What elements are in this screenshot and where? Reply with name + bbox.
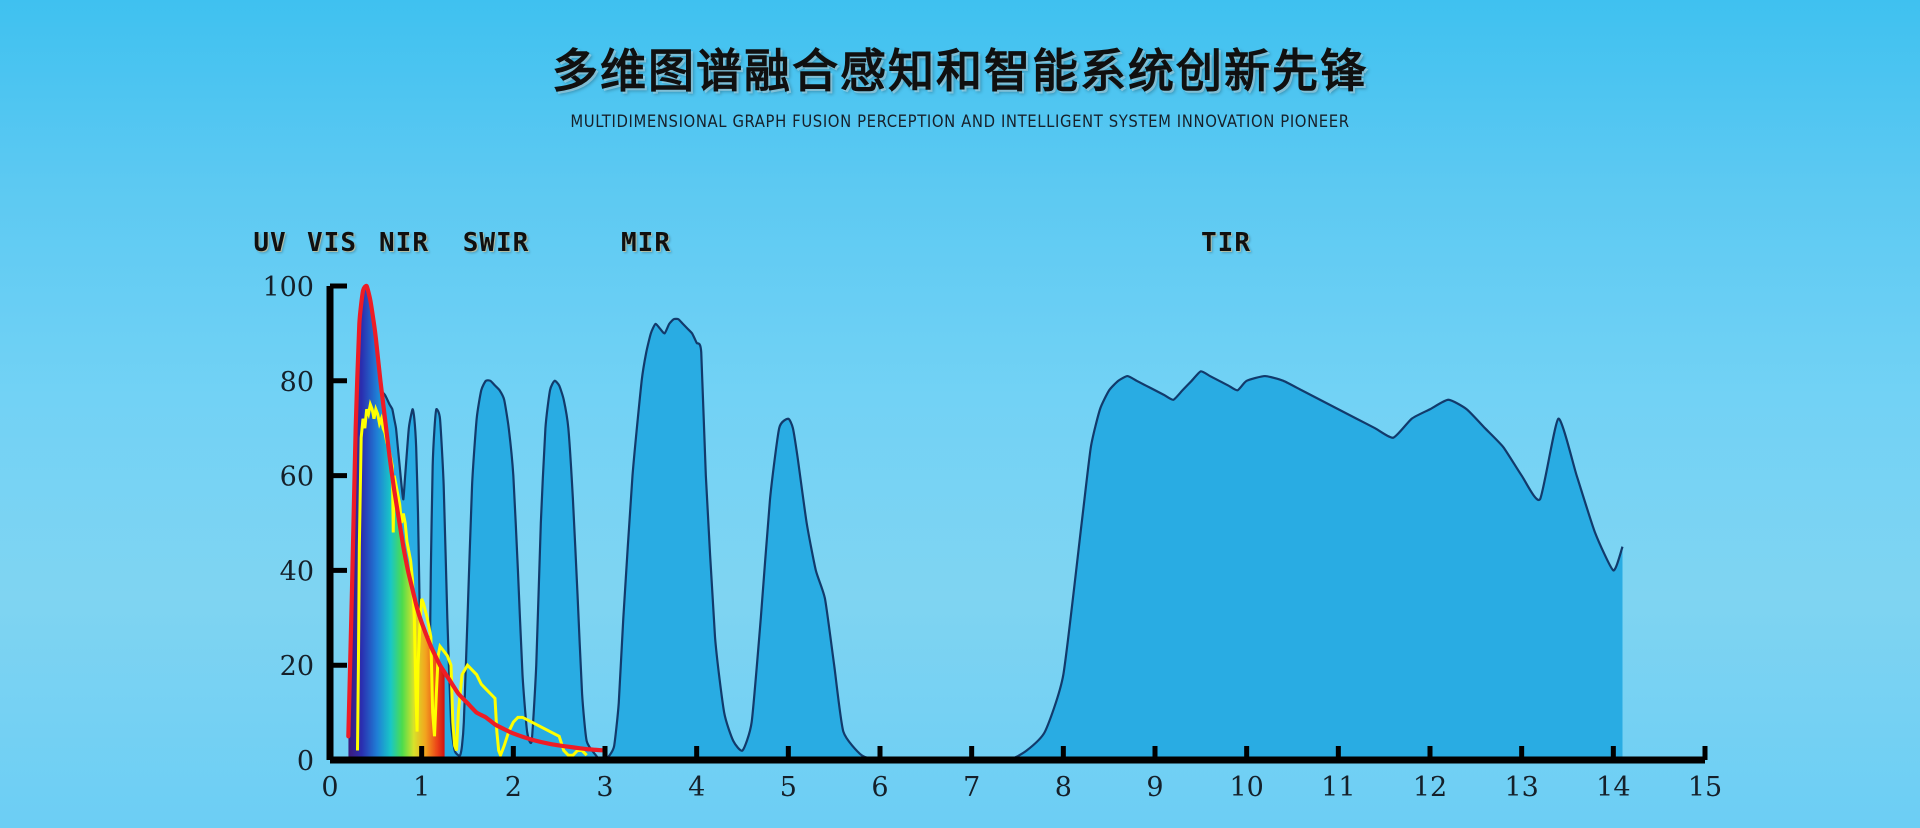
x-tick-label: 10 bbox=[1229, 772, 1263, 803]
x-tick-label: 8 bbox=[1055, 772, 1072, 803]
y-axis-tick-labels: 020406080100 bbox=[262, 272, 314, 777]
y-tick-label: 80 bbox=[280, 367, 314, 398]
x-tick-label: 9 bbox=[1146, 772, 1163, 803]
x-tick-label: 4 bbox=[688, 772, 705, 803]
x-tick-label: 1 bbox=[413, 772, 430, 803]
y-tick-label: 0 bbox=[297, 746, 314, 777]
y-tick-label: 100 bbox=[262, 272, 314, 303]
x-tick-label: 5 bbox=[780, 772, 797, 803]
chart-svg: 0123456789101112131415 020406080100 bbox=[0, 0, 1920, 828]
x-axis-tick-labels: 0123456789101112131415 bbox=[321, 772, 1722, 803]
x-tick-label: 0 bbox=[321, 772, 338, 803]
x-tick-label: 3 bbox=[596, 772, 613, 803]
transmission-fill bbox=[354, 319, 1623, 761]
x-tick-label: 15 bbox=[1688, 772, 1722, 803]
x-tick-label: 14 bbox=[1596, 772, 1630, 803]
x-tick-label: 6 bbox=[871, 772, 888, 803]
y-tick-label: 40 bbox=[280, 556, 314, 587]
x-tick-label: 11 bbox=[1321, 772, 1355, 803]
y-tick-label: 20 bbox=[280, 651, 314, 682]
x-tick-label: 12 bbox=[1413, 772, 1447, 803]
solar-spectrum-rainbow-fill bbox=[348, 286, 444, 760]
x-tick-label: 7 bbox=[963, 772, 980, 803]
spectrum-chart: 0123456789101112131415 020406080100 bbox=[0, 0, 1920, 828]
x-tick-label: 2 bbox=[505, 772, 522, 803]
poster-root: 多维图谱融合感知和智能系统创新先锋 MULTIDIMENSIONAL GRAPH… bbox=[0, 0, 1920, 828]
x-tick-label: 13 bbox=[1504, 772, 1538, 803]
visible-spectrum-gradient bbox=[348, 286, 444, 760]
atmospheric-transmission-area bbox=[354, 319, 1623, 761]
y-tick-label: 60 bbox=[280, 462, 314, 493]
